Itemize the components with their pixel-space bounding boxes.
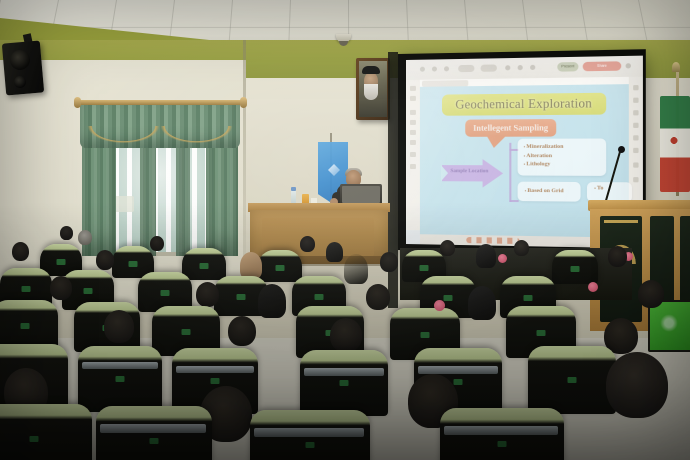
attendee-headscarf xyxy=(476,244,496,268)
slide-title: Geochemical Exploration xyxy=(442,93,606,116)
attendee-head xyxy=(300,236,315,252)
attendee-head xyxy=(228,316,256,346)
attendee-head xyxy=(104,310,134,343)
attendee-head xyxy=(78,230,92,245)
tool-icon[interactable] xyxy=(410,130,416,135)
seat-band xyxy=(82,362,158,369)
attendee-headscarf xyxy=(258,284,286,318)
portrait-beard xyxy=(364,84,378,100)
attendee-head xyxy=(514,240,529,256)
tool-icon[interactable] xyxy=(410,152,416,157)
attendee-head xyxy=(50,276,72,300)
attendee-headscarf xyxy=(344,254,368,284)
toolbar-control[interactable] xyxy=(458,65,474,72)
seat-flower xyxy=(434,300,445,311)
toolbar-icon[interactable] xyxy=(530,65,535,70)
attendee-head xyxy=(60,226,73,240)
panel-icon[interactable] xyxy=(633,123,638,128)
toolbar-icon[interactable] xyxy=(432,66,437,71)
curtain-rod xyxy=(78,100,242,105)
seat-band xyxy=(100,424,206,433)
attendee-headscarf xyxy=(240,252,262,279)
panel-icon[interactable] xyxy=(633,98,638,103)
slide-subtitle-box: Intellegent Sampling xyxy=(465,119,556,137)
panel-icon[interactable] xyxy=(633,85,638,90)
tool-icon[interactable] xyxy=(410,86,416,91)
toolbar-control[interactable] xyxy=(481,64,497,71)
portrait-turban xyxy=(362,66,380,74)
attendee-head xyxy=(608,246,627,267)
attendee-head xyxy=(380,252,398,272)
seat xyxy=(182,248,226,280)
left-toolbar-rail xyxy=(406,80,420,230)
seat xyxy=(78,346,162,412)
seat xyxy=(528,346,616,414)
share-button-label: Share xyxy=(583,61,622,71)
sample-location-arrow: Sample Location xyxy=(442,159,503,188)
slide-card-grid: Based on Grid xyxy=(518,182,581,202)
flag-emblem-icon xyxy=(668,134,680,147)
present-button-label: Present xyxy=(557,62,578,72)
bullet-mineralization: Mineralization xyxy=(524,143,606,152)
panel-icon[interactable] xyxy=(633,110,638,115)
valance-gold-trim xyxy=(84,126,236,154)
seat-band xyxy=(418,366,498,374)
tool-icon[interactable] xyxy=(410,140,416,145)
attendee-head xyxy=(150,236,164,251)
attendee-head xyxy=(440,240,455,256)
green-display-content xyxy=(660,312,678,334)
flag-finial xyxy=(672,62,680,72)
toolbar-icon[interactable] xyxy=(420,67,425,72)
status-progress xyxy=(466,237,519,244)
toolbar-icon[interactable] xyxy=(444,66,449,71)
seat-band xyxy=(254,428,364,437)
more-options-icon[interactable] xyxy=(626,63,631,68)
tool-icon[interactable] xyxy=(410,164,416,169)
toolbar-icon[interactable] xyxy=(505,65,510,70)
present-button[interactable]: Present xyxy=(557,62,578,72)
seat xyxy=(0,404,92,460)
bullet-lithology: Lithology xyxy=(524,160,606,169)
connector-line xyxy=(509,143,511,202)
attendee-head xyxy=(366,284,390,310)
laptop-display xyxy=(342,186,380,203)
seat xyxy=(0,300,58,350)
panel-icon[interactable] xyxy=(633,135,638,140)
tool-icon[interactable] xyxy=(410,96,416,101)
attendee-headscarf xyxy=(326,242,343,262)
auditorium-photo: Present Share xyxy=(0,0,690,460)
seat xyxy=(300,350,388,416)
attendee-headscarf xyxy=(468,286,496,320)
bullet-alteration: Alteration xyxy=(524,152,606,161)
share-button[interactable]: Share xyxy=(583,61,622,71)
attendee-head xyxy=(330,318,362,352)
curtain-rod-finial xyxy=(74,97,81,108)
slide-title-box: Geochemical Exploration xyxy=(442,93,606,116)
arrow-label: Sample Location xyxy=(447,168,492,174)
attendee-head xyxy=(606,352,668,418)
toolbar-icon[interactable] xyxy=(518,65,523,70)
attendee-head xyxy=(638,280,664,308)
attendee-head xyxy=(12,242,29,261)
tool-icon[interactable] xyxy=(410,110,416,115)
bullet-based-on-grid: Based on Grid xyxy=(518,182,581,196)
bottle-cap xyxy=(291,187,296,191)
seat xyxy=(96,406,212,460)
seat xyxy=(258,250,302,282)
slide-subtitle: Intellegent Sampling xyxy=(465,119,556,137)
seat xyxy=(552,250,598,284)
seat-band xyxy=(176,366,254,373)
seat-flower xyxy=(588,282,598,292)
connector-branch xyxy=(509,200,518,202)
curtain-rod-finial xyxy=(240,97,247,108)
seat-band xyxy=(444,426,558,435)
attendee-head xyxy=(96,250,114,270)
panel-icon[interactable] xyxy=(633,162,638,167)
callout-tail xyxy=(487,136,507,148)
panel-icon[interactable] xyxy=(633,148,638,153)
panel-icon[interactable] xyxy=(633,177,638,182)
slide-card-attributes: Mineralization Alteration Lithology xyxy=(518,138,607,175)
seat-band xyxy=(304,368,384,376)
tool-icon[interactable] xyxy=(410,120,416,125)
seat-flower xyxy=(498,254,507,263)
microphone-icon xyxy=(618,146,625,153)
attendee-head xyxy=(196,282,219,307)
